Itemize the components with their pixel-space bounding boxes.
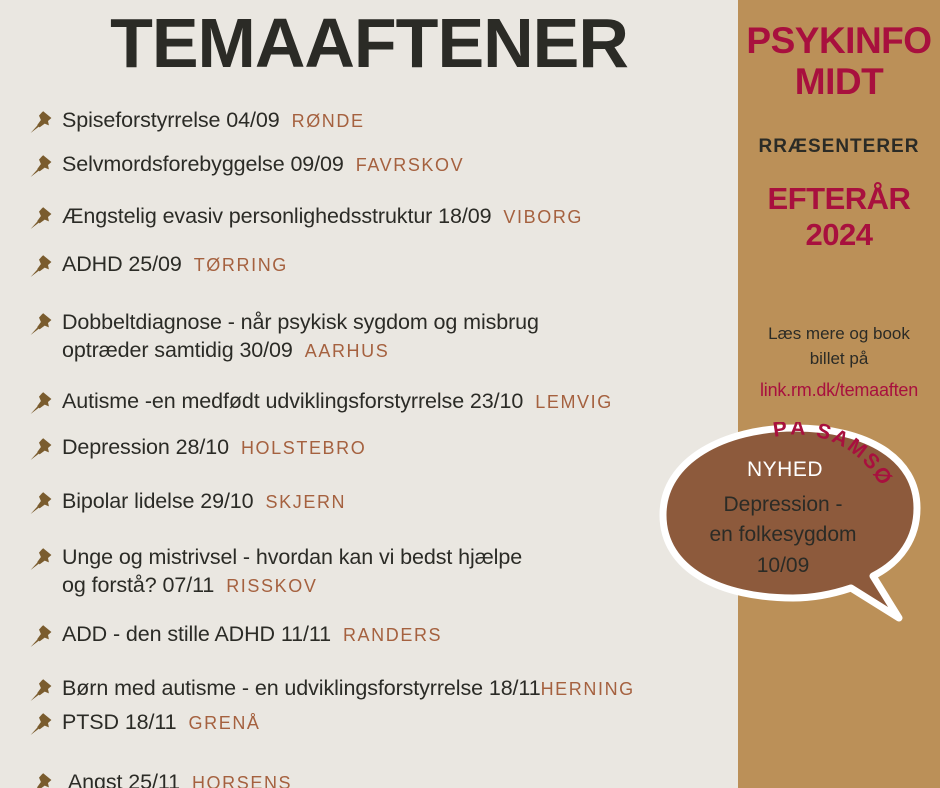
- event-text-wrapper: Angst 25/11HORSENS: [62, 768, 292, 788]
- event-title: Autisme -en medfødt udviklingsforstyrrel…: [62, 389, 523, 413]
- event-row: ADD - den stille ADHD 11/11RANDERS: [0, 620, 760, 654]
- event-city: HERNING: [541, 679, 635, 699]
- event-row: ADHD 25/09TØRRING: [0, 250, 760, 284]
- event-city: HORSENS: [192, 773, 292, 788]
- sidebar-panel: PSYKINFO MIDT RRÆSENTERER EFTERÅR 2024 L…: [738, 0, 940, 788]
- pushpin-icon: [28, 436, 54, 462]
- pushpin-icon: [28, 253, 54, 279]
- event-text-wrapper: Autisme -en medfødt udviklingsforstyrrel…: [62, 387, 613, 415]
- season-label-line-1: EFTERÅR: [738, 183, 940, 214]
- nyhed-badge: NYHED: [725, 458, 845, 482]
- event-city: RISSKOV: [226, 576, 317, 596]
- event-city: GRENÅ: [189, 713, 261, 733]
- presents-label: RRÆSENTERER: [738, 136, 940, 158]
- event-row: Ængstelig evasiv personlighedsstruktur 1…: [0, 202, 760, 236]
- pushpin-icon: [28, 623, 54, 649]
- pushpin-icon: [28, 490, 54, 516]
- event-title: Spiseforstyrrelse 04/09: [62, 108, 280, 132]
- season-label-line-2: 2024: [738, 219, 940, 250]
- page-title: TEMAAFTENER: [0, 8, 738, 78]
- event-text-wrapper: Selvmordsforebyggelse 09/09FAVRSKOV: [62, 150, 464, 178]
- pushpin-icon: [28, 153, 54, 179]
- event-text-wrapper: Spiseforstyrrelse 04/09RØNDE: [62, 106, 365, 134]
- booking-instructions: Læs mere og book billet på: [744, 322, 934, 371]
- brand-name-line-1: PSYKINFO: [738, 22, 940, 59]
- booking-link[interactable]: link.rm.dk/temaaften: [738, 380, 940, 401]
- event-row: Unge og mistrivsel - hvordan kan vi beds…: [0, 543, 760, 600]
- event-row: Depression 28/10HOLSTEBRO: [0, 433, 760, 467]
- event-city: VIBORG: [503, 207, 583, 227]
- event-title: PTSD 18/11: [62, 710, 177, 734]
- pushpin-icon: [28, 109, 54, 135]
- event-title: Depression 28/10: [62, 435, 229, 459]
- event-text-wrapper: ADD - den stille ADHD 11/11RANDERS: [62, 620, 442, 648]
- event-row: Bipolar lidelse 29/10SKJERN: [0, 487, 760, 521]
- event-text-wrapper: PTSD 18/11GRENÅ: [62, 708, 261, 736]
- event-title: ADD - den stille ADHD 11/11: [62, 622, 331, 646]
- event-text-wrapper: Bipolar lidelse 29/10SKJERN: [62, 487, 346, 515]
- pushpin-icon: [28, 205, 54, 231]
- event-row: Angst 25/11HORSENS: [0, 768, 760, 788]
- pushpin-icon: [28, 677, 54, 703]
- event-text-wrapper: Dobbeltdiagnose - når psykisk sygdom og …: [62, 308, 539, 365]
- pushpin-icon: [28, 546, 54, 572]
- event-list: Spiseforstyrrelse 04/09RØNDESelvmordsfor…: [0, 106, 760, 788]
- event-title: ADHD 25/09: [62, 252, 182, 276]
- bubble-body-text: Depression - en folkesygdom 10/09: [683, 490, 883, 581]
- event-row: Dobbeltdiagnose - når psykisk sygdom og …: [0, 308, 760, 365]
- event-text-wrapper: Unge og mistrivsel - hvordan kan vi beds…: [62, 543, 522, 600]
- event-title: Dobbeltdiagnose - når psykisk sygdom og …: [62, 310, 539, 362]
- brand-name-line-2: MIDT: [738, 63, 940, 100]
- poster-canvas: TEMAAFTENER Spiseforstyrrelse 04/09RØNDE…: [0, 0, 940, 788]
- pushpin-icon: [28, 311, 54, 337]
- event-title: Ængstelig evasiv personlighedsstruktur 1…: [62, 204, 491, 228]
- event-city: LEMVIG: [535, 392, 613, 412]
- event-city: SKJERN: [266, 492, 347, 512]
- pushpin-icon: [28, 771, 54, 788]
- event-text-wrapper: Børn med autisme - en udviklingsforstyrr…: [62, 674, 635, 702]
- event-text-wrapper: Depression 28/10HOLSTEBRO: [62, 433, 366, 461]
- event-title: Børn med autisme - en udviklingsforstyrr…: [62, 676, 541, 700]
- event-title: Selvmordsforebyggelse 09/09: [62, 152, 344, 176]
- event-title: Bipolar lidelse 29/10: [62, 489, 254, 513]
- event-row: Børn med autisme - en udviklingsforstyrr…: [0, 674, 760, 708]
- event-row: Selvmordsforebyggelse 09/09FAVRSKOV: [0, 150, 760, 184]
- event-city: FAVRSKOV: [356, 155, 465, 175]
- event-title: Angst 25/11: [62, 770, 180, 788]
- event-city: RANDERS: [343, 625, 442, 645]
- event-row: Spiseforstyrrelse 04/09RØNDE: [0, 106, 760, 140]
- event-city: AARHUS: [305, 341, 390, 361]
- news-speech-bubble: NYHED Depression - en folkesygdom 10/09 …: [655, 420, 940, 645]
- pushpin-icon: [28, 711, 54, 737]
- event-city: HOLSTEBRO: [241, 438, 366, 458]
- event-text-wrapper: ADHD 25/09TØRRING: [62, 250, 288, 278]
- event-row: Autisme -en medfødt udviklingsforstyrrel…: [0, 387, 760, 421]
- pushpin-icon: [28, 390, 54, 416]
- event-city: TØRRING: [194, 255, 288, 275]
- event-row: PTSD 18/11GRENÅ: [0, 708, 760, 742]
- event-text-wrapper: Ængstelig evasiv personlighedsstruktur 1…: [62, 202, 583, 230]
- event-city: RØNDE: [292, 111, 365, 131]
